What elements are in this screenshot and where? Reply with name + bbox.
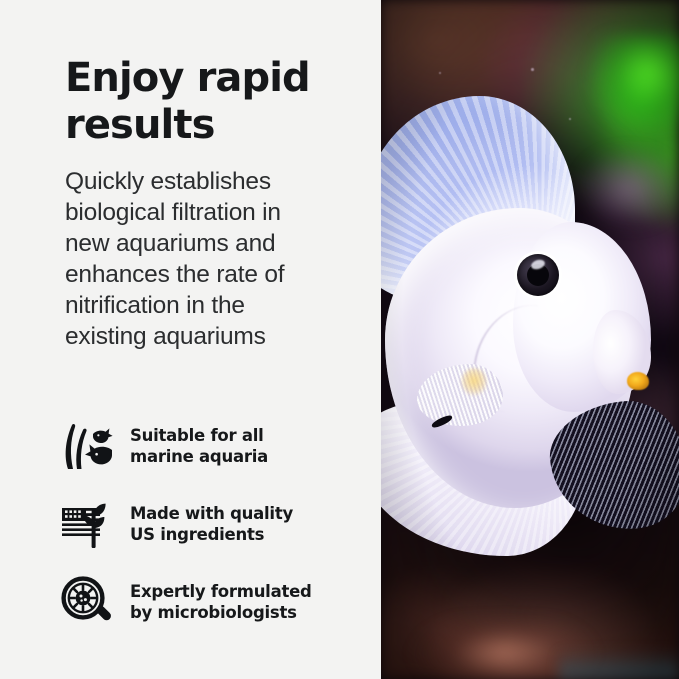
list-item: Suitable for all marine aquaria (0, 415, 381, 477)
list-item-label: Made with quality US ingredients (130, 503, 381, 545)
pectoral-fin-highlight (461, 368, 487, 396)
magnifier-microbe-icon (60, 576, 118, 628)
water-particle (439, 72, 441, 74)
list-item: Expertly formulated by microbiologists (0, 571, 381, 633)
list-item: Made with quality US ingredients (0, 493, 381, 555)
water-particle (531, 68, 534, 71)
snout-tip (627, 372, 649, 390)
list-item-label: Expertly formulated by microbiologists (130, 581, 381, 623)
fish-seaweed-icon (60, 420, 118, 472)
bottom-water-tint (559, 649, 679, 679)
list-item-label: Suitable for all marine aquaria (130, 425, 381, 467)
page-title: Enjoy rapid results (65, 55, 365, 149)
feature-list: Suitable for all marine aquaria (0, 415, 381, 649)
left-text-panel: Enjoy rapid results Quickly establishes … (0, 0, 381, 679)
product-feature-banner: Enjoy rapid results Quickly establishes … (0, 0, 679, 679)
tang-fish (381, 96, 675, 556)
description-text: Quickly establishes biological filtratio… (65, 166, 327, 352)
product-photo (381, 0, 679, 679)
us-flag-plant-icon (60, 498, 118, 550)
